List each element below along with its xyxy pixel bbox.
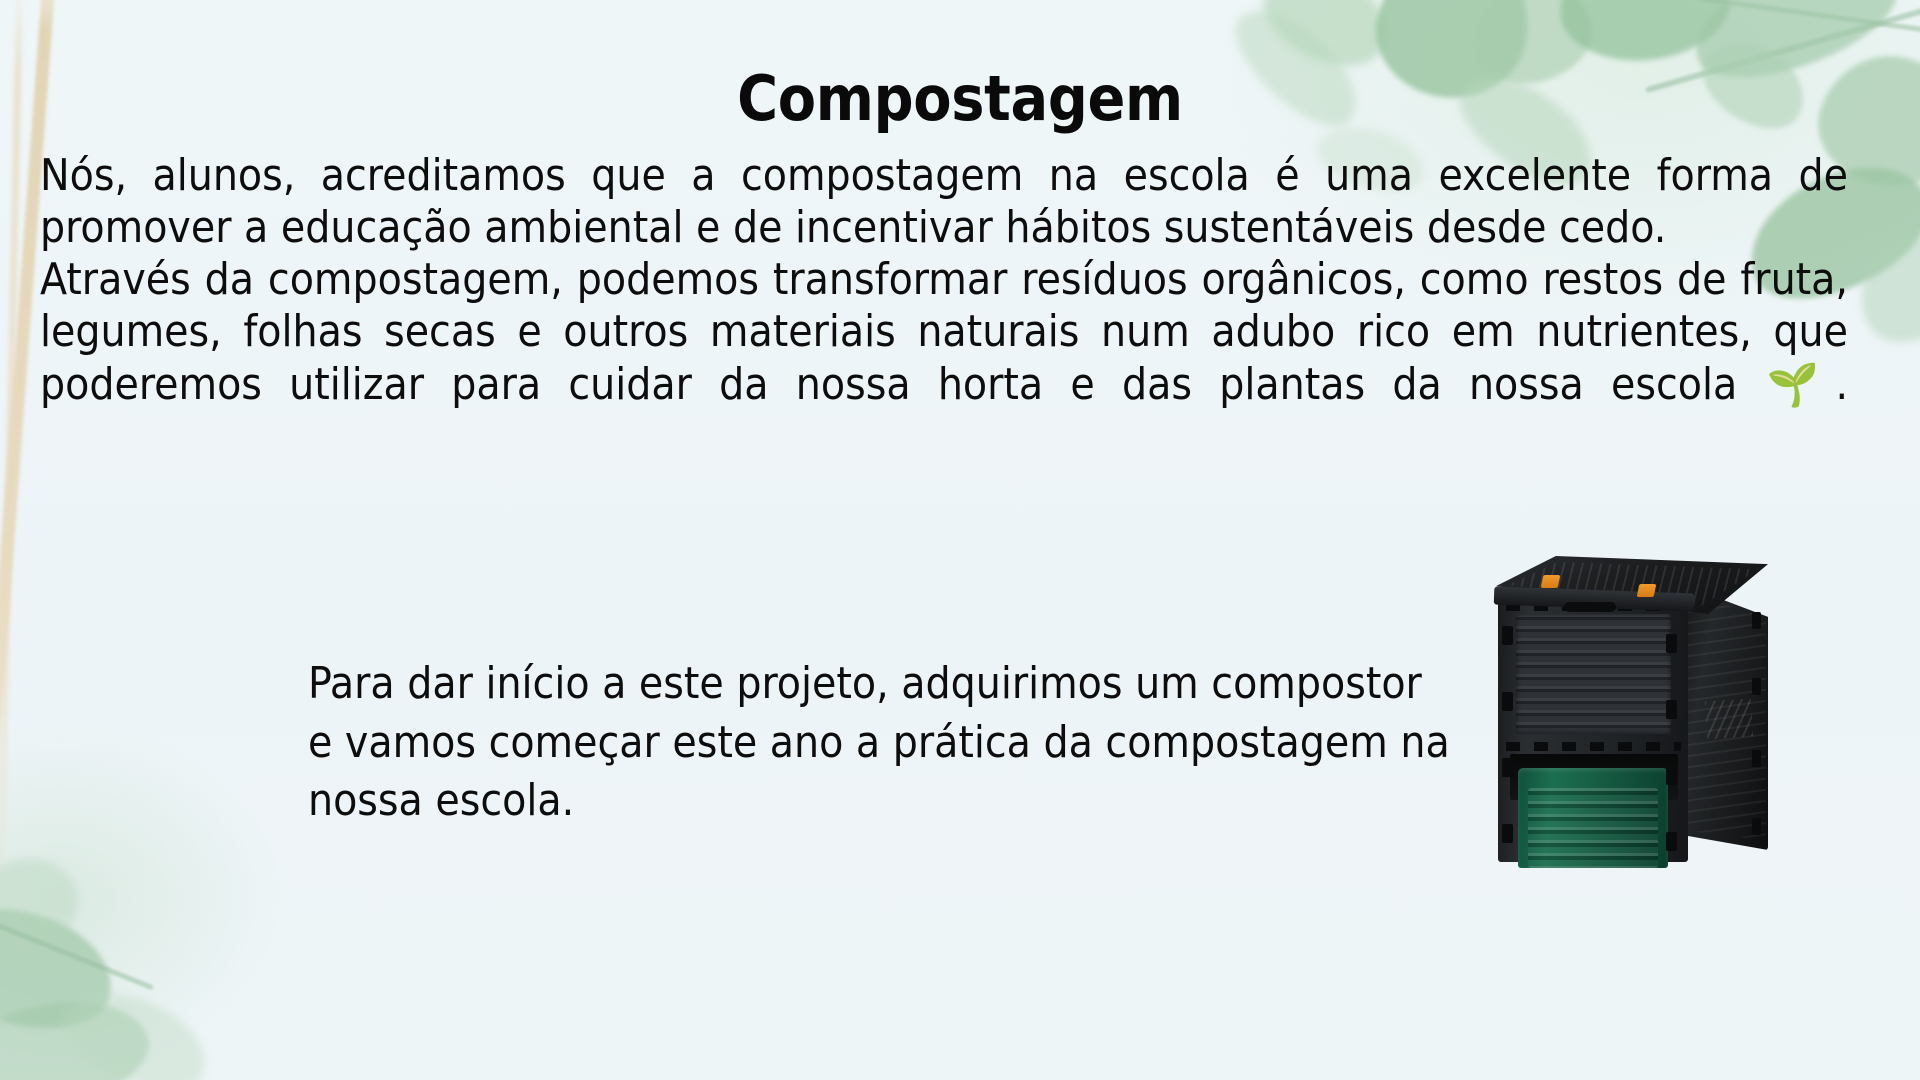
paragraph-intro: Nós, alunos, acreditamos que a compostag…	[40, 150, 1848, 254]
composter-lid-handle	[1564, 602, 1616, 612]
composter-clip	[1666, 766, 1677, 785]
leaf-icon	[1839, 215, 1920, 362]
page-title: Compostagem	[0, 64, 1920, 133]
seedling-icon: 🌱	[1764, 360, 1835, 409]
composter-green-door-ribs	[1528, 788, 1658, 868]
composter-clip	[1502, 824, 1513, 843]
indented-text-block: Para dar início a este projeto, adquirim…	[308, 655, 1458, 889]
composter-image	[1480, 552, 1770, 872]
body-text-block: Nós, alunos, acreditamos que a compostag…	[40, 150, 1848, 463]
composter-clip	[1666, 634, 1677, 653]
composter-slot-row-mid	[1506, 742, 1681, 751]
leaf-icon	[1556, 0, 1734, 66]
leaf-branch-icon	[0, 915, 154, 991]
leaf-icon	[0, 985, 159, 1080]
composter-vent-icon	[1705, 698, 1754, 739]
leaf-icon	[0, 838, 96, 981]
composter-clip	[1502, 692, 1513, 711]
composter-latch-right-icon	[1637, 584, 1657, 597]
paragraph-process: Através da compostagem, podemos transfor…	[40, 254, 1848, 463]
composter-latch-left-icon	[1541, 575, 1561, 588]
plant-stalk-icon	[0, 0, 23, 960]
composter-clip	[1666, 700, 1677, 719]
slide-compostagem: Compostagem Nós, alunos, acreditamos que…	[0, 0, 1920, 1080]
composter-clip	[1502, 758, 1513, 777]
composter-clip	[1502, 626, 1513, 645]
paragraph-process-period: .	[1835, 359, 1848, 410]
leaf-icon	[50, 973, 220, 1080]
plant-stalk-icon	[0, 0, 57, 958]
composter-clip	[1666, 832, 1677, 851]
paragraph-project: Para dar início a este projeto, adquirim…	[308, 655, 1458, 889]
composter-clip	[1752, 678, 1761, 695]
leaf-branch-icon	[1701, 0, 1920, 33]
leaf-icon	[0, 888, 126, 1048]
composter-front-ribs	[1516, 614, 1671, 734]
composter-clip	[1752, 750, 1761, 767]
paragraph-process-text: Através da compostagem, podemos transfor…	[40, 254, 1848, 409]
composter-clip	[1752, 612, 1761, 629]
composter-clip	[1752, 818, 1761, 835]
